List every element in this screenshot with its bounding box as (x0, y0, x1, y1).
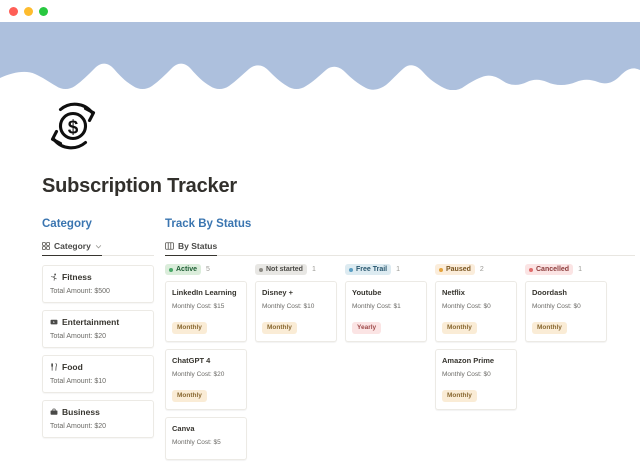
card-title: Amazon Prime (442, 356, 510, 365)
status-count: 5 (206, 266, 210, 273)
kanban-card[interactable]: Doordash Monthly Cost: $0 Monthly (525, 281, 607, 342)
card-title: Doordash (532, 288, 600, 297)
category-total-amount: Total Amount: $500 (50, 288, 146, 295)
category-section: Category Category (42, 218, 154, 445)
kanban-column-free-trail: Free Trail 1 Youtube Monthly Cost: $1 Ye… (345, 264, 427, 467)
category-name: Entertainment (62, 317, 119, 327)
status-label: Cancelled (536, 266, 569, 274)
page-cover-banner (0, 22, 640, 90)
billing-tag: Monthly (532, 322, 567, 334)
status-label: Not started (266, 266, 303, 274)
maximize-window-button[interactable] (39, 7, 48, 16)
category-total-amount: Total Amount: $20 (50, 333, 146, 340)
card-cost: Monthly Cost: $0 (442, 371, 510, 378)
status-label: Paused (446, 266, 471, 274)
svg-text:$: $ (68, 118, 79, 139)
billing-tag: Monthly (442, 390, 477, 402)
category-card-entertainment[interactable]: Entertainment Total Amount: $20 (42, 310, 154, 348)
category-card-title: Entertainment (50, 317, 146, 327)
card-title: Canva (172, 424, 240, 433)
window-title-bar (0, 0, 640, 22)
page-icon: $ (42, 95, 104, 157)
card-cost: Monthly Cost: $0 (442, 303, 510, 310)
status-bullet-icon (259, 268, 263, 272)
card-cost: Monthly Cost: $20 (172, 371, 240, 378)
dollar-refresh-icon: $ (42, 95, 104, 157)
card-cost: Monthly Cost: $1 (352, 303, 420, 310)
status-badge: Free Trail (345, 264, 391, 275)
status-tab-underline (165, 255, 635, 256)
billing-tag: Monthly (172, 390, 207, 402)
card-title: ChatGPT 4 (172, 356, 240, 365)
category-card-title: Food (50, 362, 146, 372)
billing-tag: Monthly (262, 322, 297, 334)
status-badge: Paused (435, 264, 475, 275)
status-count: 2 (480, 266, 484, 273)
kanban-column-header[interactable]: Active 5 (165, 264, 247, 275)
card-cost: Monthly Cost: $15 (172, 303, 240, 310)
status-label: Free Trail (356, 266, 387, 274)
page-title: Subscription Tracker (42, 175, 237, 198)
board-icon (165, 242, 174, 250)
card-title: Youtube (352, 288, 420, 297)
category-card-business[interactable]: Business Total Amount: $20 (42, 400, 154, 438)
kanban-card[interactable]: ChatGPT 4 Monthly Cost: $20 Monthly (165, 349, 247, 410)
kanban-column-header[interactable]: Free Trail 1 (345, 264, 427, 275)
gallery-icon (42, 242, 50, 250)
category-card-fitness[interactable]: Fitness Total Amount: $500 (42, 265, 154, 303)
category-card-title: Business (50, 407, 146, 417)
status-label: Active (176, 266, 197, 274)
kanban-board: Active 5 LinkedIn Learning Monthly Cost:… (165, 264, 635, 467)
kanban-column-header[interactable]: Cancelled 1 (525, 264, 607, 275)
kanban-card[interactable]: Canva Monthly Cost: $5 (165, 417, 247, 460)
card-cost: Monthly Cost: $10 (262, 303, 330, 310)
category-view-tab-label: Category (54, 241, 91, 251)
card-cost: Monthly Cost: $5 (172, 439, 240, 446)
category-card-title: Fitness (50, 272, 146, 282)
fitness-icon (50, 273, 58, 281)
briefcase-icon (50, 408, 58, 416)
billing-tag: Monthly (442, 322, 477, 334)
kanban-column-paused: Paused 2 Netflix Monthly Cost: $0 Monthl… (435, 264, 517, 467)
status-bullet-icon (439, 268, 443, 272)
category-name: Food (62, 362, 83, 372)
status-badge: Cancelled (525, 264, 573, 275)
card-title: Netflix (442, 288, 510, 297)
minimize-window-button[interactable] (24, 7, 33, 16)
close-window-button[interactable] (9, 7, 18, 16)
status-bullet-icon (529, 268, 533, 272)
status-count: 1 (396, 266, 400, 273)
category-card-list: Fitness Total Amount: $500 Entertainment (42, 265, 154, 438)
kanban-card[interactable]: LinkedIn Learning Monthly Cost: $15 Mont… (165, 281, 247, 342)
status-view-tab-label: By Status (178, 241, 217, 251)
status-count: 1 (578, 266, 582, 273)
kanban-column-cancelled: Cancelled 1 Doordash Monthly Cost: $0 Mo… (525, 264, 607, 467)
status-badge: Active (165, 264, 201, 275)
kanban-card[interactable]: Youtube Monthly Cost: $1 Yearly (345, 281, 427, 342)
scalloped-wave-graphic (0, 22, 640, 90)
status-view-tab[interactable]: By Status (165, 237, 635, 256)
kanban-card[interactable]: Disney + Monthly Cost: $10 Monthly (255, 281, 337, 342)
status-bullet-icon (349, 268, 353, 272)
tv-icon (50, 318, 58, 326)
chevron-down-icon (95, 243, 102, 250)
status-count: 1 (312, 266, 316, 273)
kanban-card[interactable]: Amazon Prime Monthly Cost: $0 Monthly (435, 349, 517, 410)
status-section: Track By Status By Status (165, 218, 635, 467)
billing-tag: Yearly (352, 322, 381, 334)
card-cost: Monthly Cost: $0 (532, 303, 600, 310)
kanban-column-not-started: Not started 1 Disney + Monthly Cost: $10… (255, 264, 337, 467)
kanban-column-header[interactable]: Not started 1 (255, 264, 337, 275)
kanban-column-header[interactable]: Paused 2 (435, 264, 517, 275)
category-section-heading: Category (42, 218, 154, 230)
category-view-tab[interactable]: Category (42, 237, 154, 256)
category-total-amount: Total Amount: $10 (50, 378, 146, 385)
kanban-column-active: Active 5 LinkedIn Learning Monthly Cost:… (165, 264, 247, 467)
category-card-food[interactable]: Food Total Amount: $10 (42, 355, 154, 393)
category-name: Fitness (62, 272, 92, 282)
food-icon (50, 363, 58, 371)
status-bullet-icon (169, 268, 173, 272)
status-section-heading: Track By Status (165, 218, 635, 230)
billing-tag: Monthly (172, 322, 207, 334)
category-name: Business (62, 407, 100, 417)
category-total-amount: Total Amount: $20 (50, 423, 146, 430)
kanban-card[interactable]: Netflix Monthly Cost: $0 Monthly (435, 281, 517, 342)
card-title: Disney + (262, 288, 330, 297)
card-title: LinkedIn Learning (172, 288, 240, 297)
status-badge: Not started (255, 264, 307, 275)
